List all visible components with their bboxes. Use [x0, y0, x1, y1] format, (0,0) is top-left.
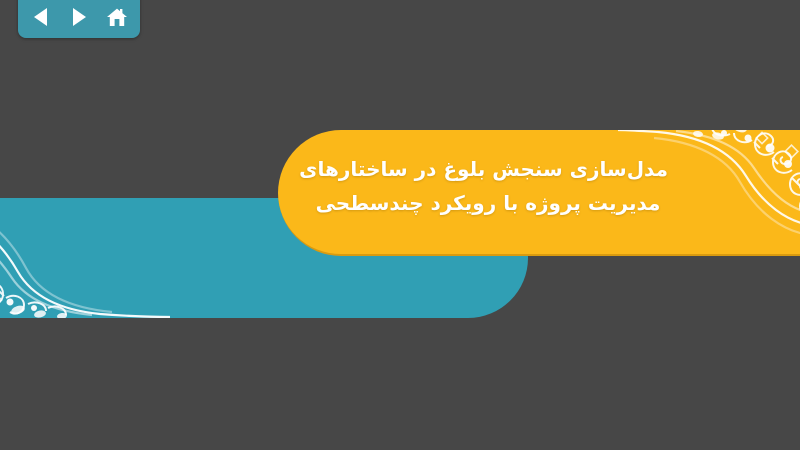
- forward-icon: [70, 7, 88, 27]
- orange-title-band: مدل‌سازی سنجش بلوغ در ساختارهای مدیریت پ…: [278, 130, 800, 256]
- forward-button[interactable]: [65, 3, 93, 31]
- title-line-2: مدیریت پروژه با رویکرد چندسطحی: [308, 186, 668, 220]
- navigation-bar[interactable]: [18, 0, 140, 38]
- slide-title: مدل‌سازی سنجش بلوغ در ساختارهای مدیریت پ…: [308, 152, 668, 220]
- back-button[interactable]: [27, 3, 55, 31]
- slide-canvas: مدل‌سازی سنجش بلوغ در ساختارهای مدیریت پ…: [0, 0, 800, 450]
- teal-arabesque-ornament: [0, 198, 170, 318]
- home-icon: [106, 6, 128, 28]
- back-icon: [32, 7, 50, 27]
- home-button[interactable]: [103, 3, 131, 31]
- title-line-1: مدل‌سازی سنجش بلوغ در ساختارهای: [308, 152, 668, 186]
